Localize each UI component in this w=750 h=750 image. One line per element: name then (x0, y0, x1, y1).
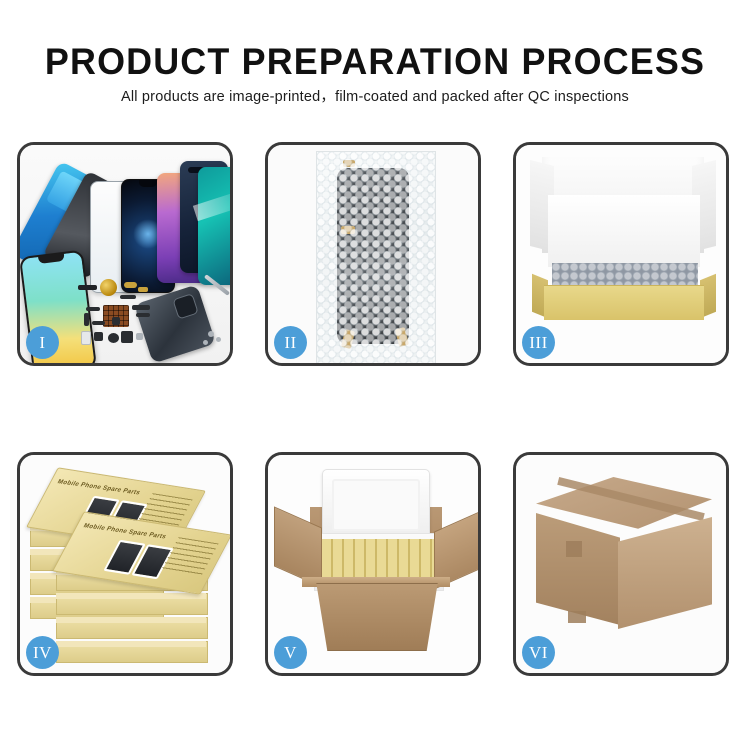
component-part (81, 331, 91, 345)
step-panel-3[interactable]: III (513, 142, 729, 366)
box-stack: Mobile Phone Spare Parts Mobile Phone Sp… (26, 473, 230, 663)
step-panel-5[interactable]: V (265, 452, 481, 676)
step-badge-3: III (522, 326, 555, 359)
component-part (92, 321, 105, 325)
product-preparation-process-page: PRODUCT PREPARATION PROCESS All products… (0, 0, 750, 750)
step-panel-6[interactable]: VI (513, 452, 729, 676)
speaker-coil-icon (100, 279, 117, 296)
phone-backplate-icon (134, 284, 216, 363)
component-part (84, 313, 89, 326)
foam-lid (322, 469, 430, 541)
component-part (94, 332, 103, 341)
step-badge-4: IV (26, 636, 59, 669)
box-label-text: Mobile Phone Spare Parts (56, 479, 141, 496)
component-part (136, 313, 150, 317)
bubble-wrap-bag (316, 151, 436, 363)
step-panel-2[interactable]: II (265, 142, 481, 366)
header: PRODUCT PREPARATION PROCESS All products… (0, 0, 750, 120)
screw-icon (216, 337, 221, 342)
teal-phone-icon (198, 167, 230, 285)
component-part (138, 287, 148, 292)
box-label-text: Mobile Phone Spare Parts (82, 523, 167, 540)
page-title: PRODUCT PREPARATION PROCESS (11, 42, 739, 82)
box-spec-lines (161, 537, 219, 577)
stacked-box (56, 593, 208, 615)
carton-right-face (618, 517, 712, 629)
component-part (108, 333, 119, 343)
step-badge-6: VI (522, 636, 555, 669)
foam-sheet (548, 195, 700, 267)
page-subtitle: All products are image-printed，film-coat… (0, 88, 750, 106)
process-steps-grid: I II (17, 142, 733, 678)
step-badge-1: I (26, 326, 59, 359)
screw-icon (203, 340, 208, 345)
component-part (112, 317, 120, 325)
carton-left-face (536, 513, 620, 625)
carton-tab (566, 541, 582, 557)
carton-tab (568, 611, 586, 623)
step-panel-1[interactable]: I (17, 142, 233, 366)
component-part (132, 305, 150, 310)
stacked-box (56, 617, 208, 639)
screw-icon (208, 331, 214, 337)
bubble-texture (317, 152, 435, 363)
step-badge-5: V (274, 636, 307, 669)
step-panel-4[interactable]: Mobile Phone Spare Parts Mobile Phone Sp… (17, 452, 233, 676)
carton-front-wall (308, 583, 446, 651)
box-front-yellow (544, 285, 704, 320)
component-part (136, 333, 143, 340)
component-part (121, 331, 133, 343)
component-part (120, 295, 136, 299)
component-part (86, 307, 100, 311)
step-badge-2: II (274, 326, 307, 359)
component-part (78, 285, 97, 290)
stacked-box (56, 641, 208, 663)
component-part (124, 282, 137, 288)
